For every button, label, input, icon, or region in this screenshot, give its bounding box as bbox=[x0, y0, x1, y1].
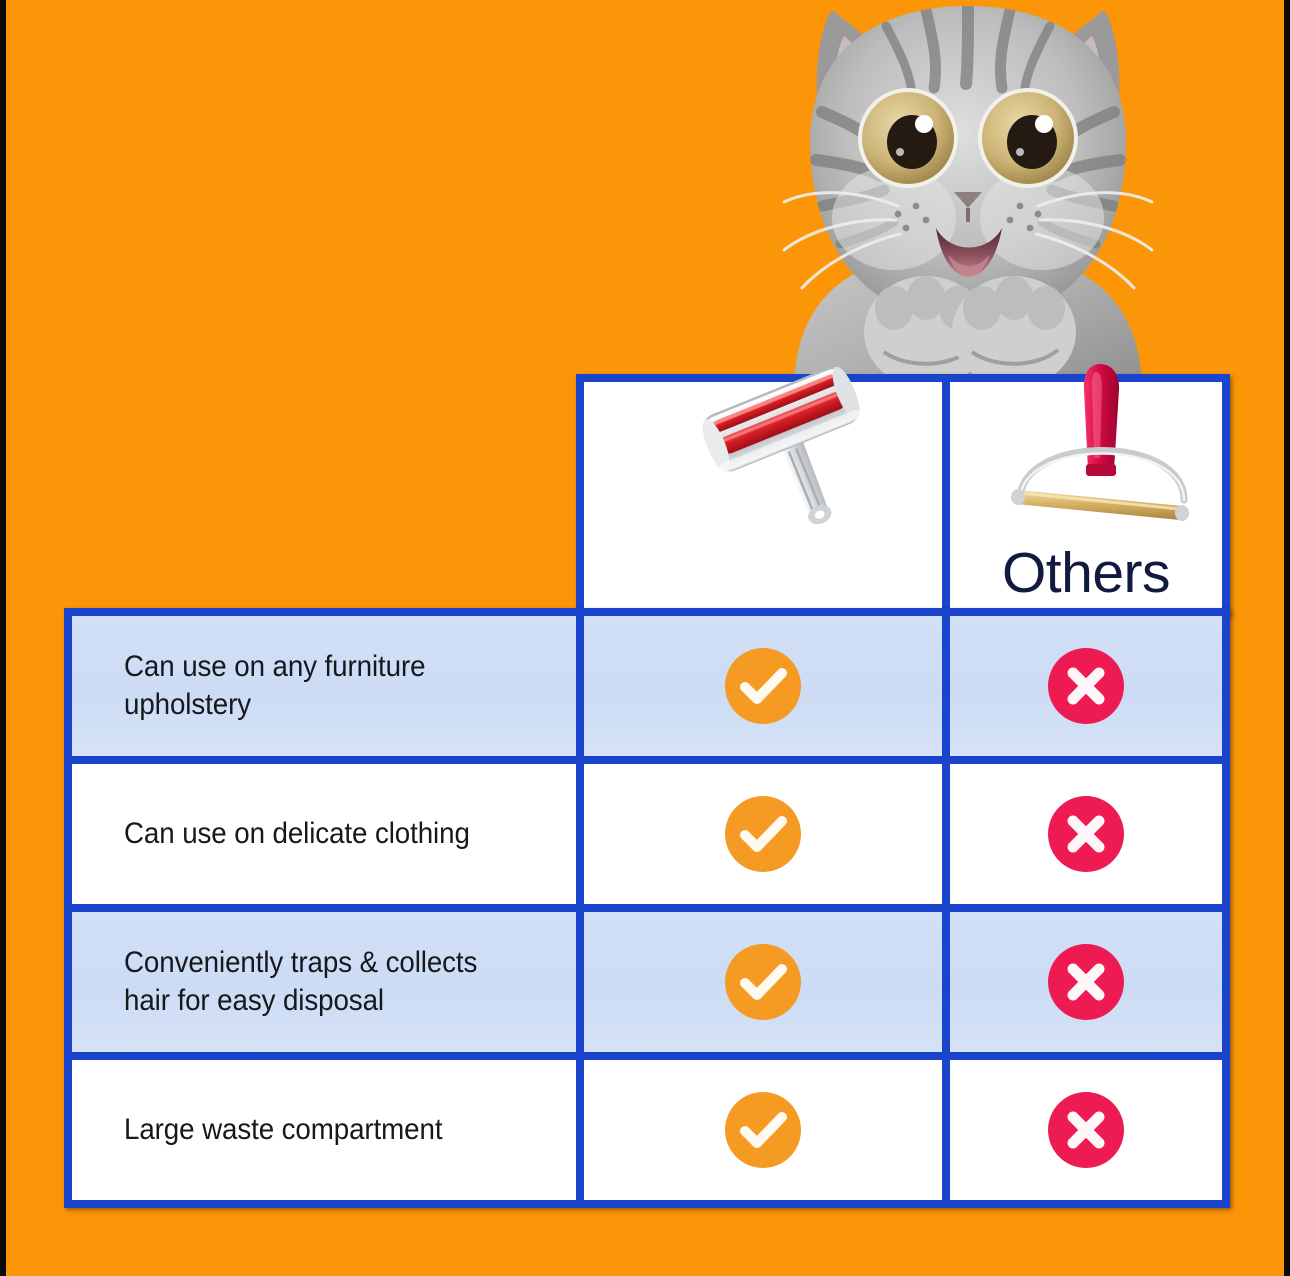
surprised-cat-photo bbox=[766, 0, 1170, 392]
pet-hair-remover-tool-image bbox=[996, 360, 1208, 550]
cell-others-row-2 bbox=[950, 764, 1222, 904]
check-circle-icon bbox=[723, 794, 803, 874]
feature-line: Conveniently traps & collects bbox=[124, 946, 477, 979]
feature-label: Large waste compartment bbox=[124, 1111, 442, 1149]
check-circle-icon bbox=[723, 646, 803, 726]
cell-ours-row-3 bbox=[584, 912, 942, 1052]
cell-others-row-3 bbox=[950, 912, 1222, 1052]
cell-ours-row-1 bbox=[584, 616, 942, 756]
table-row: Can use on delicate clothing bbox=[72, 764, 576, 904]
feature-label: Can use on any furniture upholstery bbox=[124, 648, 425, 724]
cross-circle-icon bbox=[1046, 942, 1126, 1022]
feature-line: hair for easy disposal bbox=[124, 984, 384, 1017]
comparison-table-header: Others bbox=[576, 374, 1230, 616]
feature-line: upholstery bbox=[124, 688, 251, 721]
table-row: Large waste compartment bbox=[72, 1060, 576, 1200]
cross-circle-icon bbox=[1046, 646, 1126, 726]
cross-circle-icon bbox=[1046, 1090, 1126, 1170]
header-label-others: Others bbox=[950, 545, 1222, 602]
feature-line: Can use on delicate clothing bbox=[124, 817, 470, 850]
cross-circle-icon bbox=[1046, 794, 1126, 874]
check-circle-icon bbox=[723, 942, 803, 1022]
cell-ours-row-4 bbox=[584, 1060, 942, 1200]
comparison-table-body: Can use on any furniture upholstery bbox=[64, 608, 1230, 1208]
feature-label: Conveniently traps & collects hair for e… bbox=[124, 944, 477, 1020]
comparison-infographic: Others Can use on any furniture upholste… bbox=[0, 0, 1290, 1276]
feature-label: Can use on delicate clothing bbox=[124, 815, 470, 853]
feature-line: Can use on any furniture bbox=[124, 650, 425, 683]
table-row: Conveniently traps & collects hair for e… bbox=[72, 912, 576, 1052]
cell-others-row-1 bbox=[950, 616, 1222, 756]
check-circle-icon bbox=[723, 1090, 803, 1170]
header-cell-others: Others bbox=[950, 382, 1222, 608]
cell-ours-row-2 bbox=[584, 764, 942, 904]
lint-roller-product-image bbox=[692, 346, 892, 546]
cell-others-row-4 bbox=[950, 1060, 1222, 1200]
feature-line: Large waste compartment bbox=[124, 1113, 442, 1146]
header-cell-ours bbox=[584, 382, 942, 608]
table-row: Can use on any furniture upholstery bbox=[72, 616, 576, 756]
